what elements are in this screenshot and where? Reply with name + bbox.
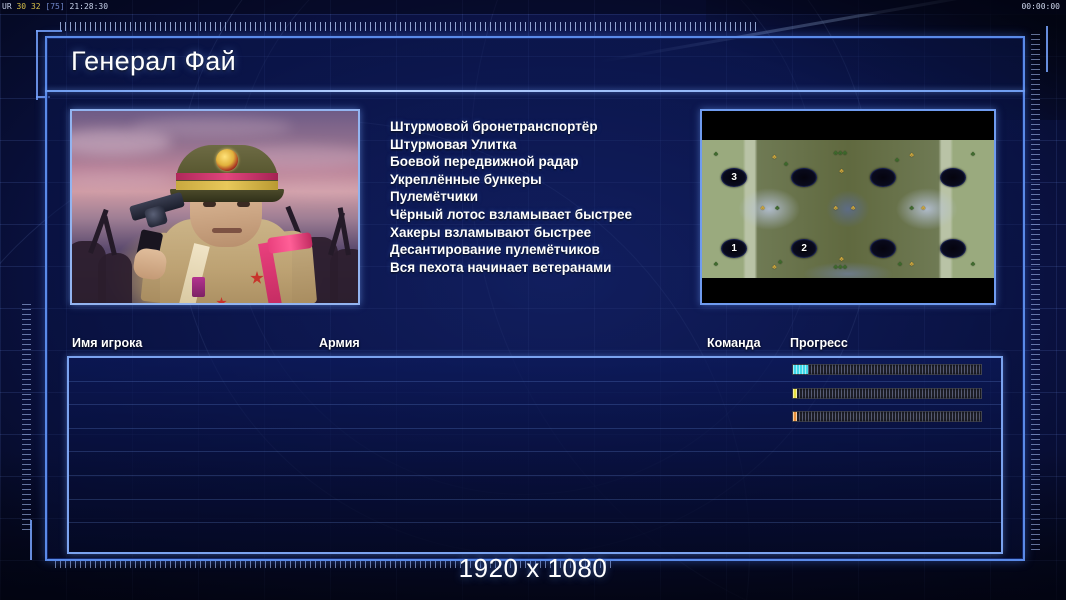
grid-line-v: [1056, 0, 1057, 600]
ability-item: Вся пехота начинает ветеранами: [390, 259, 710, 277]
map-tree-icon: ♣: [775, 205, 780, 212]
map-tree-icon: ♣: [760, 205, 765, 212]
loading-screen: UR 30 32 [75] 21:28:30 00:00:00 Генерал …: [0, 0, 1066, 600]
player-table-body: [67, 356, 1003, 554]
map-start-position[interactable]: 3: [721, 168, 747, 187]
title-bar: Генерал Фай: [45, 36, 1025, 92]
ability-item: Укреплённые бункеры: [390, 171, 710, 189]
map-tree-icon: ♣: [772, 264, 777, 271]
status-token-32: 32: [31, 2, 41, 11]
ability-item: Боевой передвижной радар: [390, 153, 710, 171]
frame-accent-1: [36, 30, 38, 100]
ruler-left: [22, 300, 31, 530]
general-portrait: [72, 111, 358, 303]
map-start-position[interactable]: [791, 168, 817, 187]
table-row[interactable]: [69, 382, 1001, 406]
ability-item: Штурмовой бронетранспортёр: [390, 118, 710, 136]
player-table-header: Имя игрока Армия Команда Прогресс: [45, 336, 1025, 356]
status-bar-left: UR 30 32 [75] 21:28:30: [2, 0, 108, 14]
column-header-army: Армия: [319, 336, 360, 350]
grid-line-v: [0, 0, 1, 600]
map-tree-icon: ♣: [839, 256, 844, 263]
map-start-position[interactable]: [870, 239, 896, 258]
progress-bar-fill: [793, 365, 808, 374]
map-tree-icon: ♣♣♣: [833, 150, 847, 157]
ability-item: Чёрный лотос взламывает быстрее: [390, 206, 710, 224]
progress-bar-fill: [793, 389, 797, 398]
map-preview-frame: ♣♣♣♣♣♣♣♣♣♣♣♣♣♣♣♣♣♣♣♣♣♣♣♣♣♣312: [700, 109, 996, 305]
map-tree-icon: ♣: [909, 152, 914, 159]
column-header-name: Имя игрока: [72, 336, 142, 350]
map-tree-icon: ♣: [714, 261, 719, 268]
ability-item: Хакеры взламывают быстрее: [390, 224, 710, 242]
column-header-team: Команда: [707, 336, 761, 350]
map-tree-icon: ♣♣♣: [833, 264, 847, 271]
column-header-progress: Прогресс: [790, 336, 848, 350]
map-tree-icon: ♣: [833, 205, 838, 212]
map-tree-icon: ♣: [714, 151, 719, 158]
map-tree-icon: ♣: [784, 161, 789, 168]
progress-bar-fill: [793, 412, 797, 421]
table-row[interactable]: [69, 429, 1001, 453]
map-tree-icon: ♣: [772, 154, 777, 161]
content-band: Штурмовой бронетранспортёрШтурмовая Улит…: [45, 94, 1025, 330]
table-row[interactable]: [69, 452, 1001, 476]
map-tree-icon: ♣: [971, 261, 976, 268]
map-tree-icon: ♣: [909, 205, 914, 212]
resolution-label: 1920 x 1080: [0, 553, 1066, 584]
player-table: Имя игрока Армия Команда Прогресс: [45, 336, 1025, 561]
ruler-right: [1031, 30, 1040, 550]
general-portrait-frame: [70, 109, 360, 305]
map-preview: ♣♣♣♣♣♣♣♣♣♣♣♣♣♣♣♣♣♣♣♣♣♣♣♣♣♣312: [702, 140, 994, 278]
map-tree-icon: ♣: [921, 205, 926, 212]
map-start-position[interactable]: 2: [791, 239, 817, 258]
map-tree-icon: ♣: [909, 261, 914, 268]
ability-item: Десантирование пулемётчиков: [390, 241, 710, 259]
status-token-clock: 21:28:30: [70, 2, 109, 11]
title-divider: [45, 90, 1025, 92]
map-tree-icon: ♣: [839, 168, 844, 175]
frame-accent-2: [36, 30, 62, 32]
status-token-75: [75]: [45, 2, 64, 11]
map-start-position[interactable]: [940, 168, 966, 187]
page-title: Генерал Фай: [71, 46, 236, 77]
grid-line-h: [0, 14, 1066, 15]
general-ability-list: Штурмовой бронетранспортёрШтурмовая Улит…: [390, 118, 710, 276]
map-start-position[interactable]: [940, 239, 966, 258]
table-row[interactable]: [69, 358, 1001, 382]
ability-item: Штурмовая Улитка: [390, 136, 710, 154]
ruler-top: [60, 22, 760, 31]
ability-item: Пулемётчики: [390, 188, 710, 206]
map-start-position[interactable]: 1: [721, 239, 747, 258]
table-row[interactable]: [69, 405, 1001, 429]
progress-bar: [792, 411, 982, 422]
map-tree-icon: ♣: [971, 151, 976, 158]
frame-accent-4: [1046, 26, 1048, 72]
map-tree-icon: ♣: [895, 157, 900, 164]
progress-bar: [792, 364, 982, 375]
main-panel: Генерал Фай: [45, 36, 1025, 561]
table-row[interactable]: [69, 500, 1001, 524]
table-row[interactable]: [69, 523, 1001, 547]
map-start-position[interactable]: [870, 168, 896, 187]
map-tree-icon: ♣: [898, 261, 903, 268]
status-token-ur: UR: [2, 2, 12, 11]
table-row[interactable]: [69, 476, 1001, 500]
progress-bar: [792, 388, 982, 399]
map-tree-icon: ♣: [778, 259, 783, 266]
status-token-30: 30: [16, 2, 26, 11]
map-tree-icon: ♣: [851, 205, 856, 212]
status-bar: UR 30 32 [75] 21:28:30 00:00:00: [0, 0, 1066, 14]
elapsed-timer: 00:00:00: [1021, 0, 1060, 14]
